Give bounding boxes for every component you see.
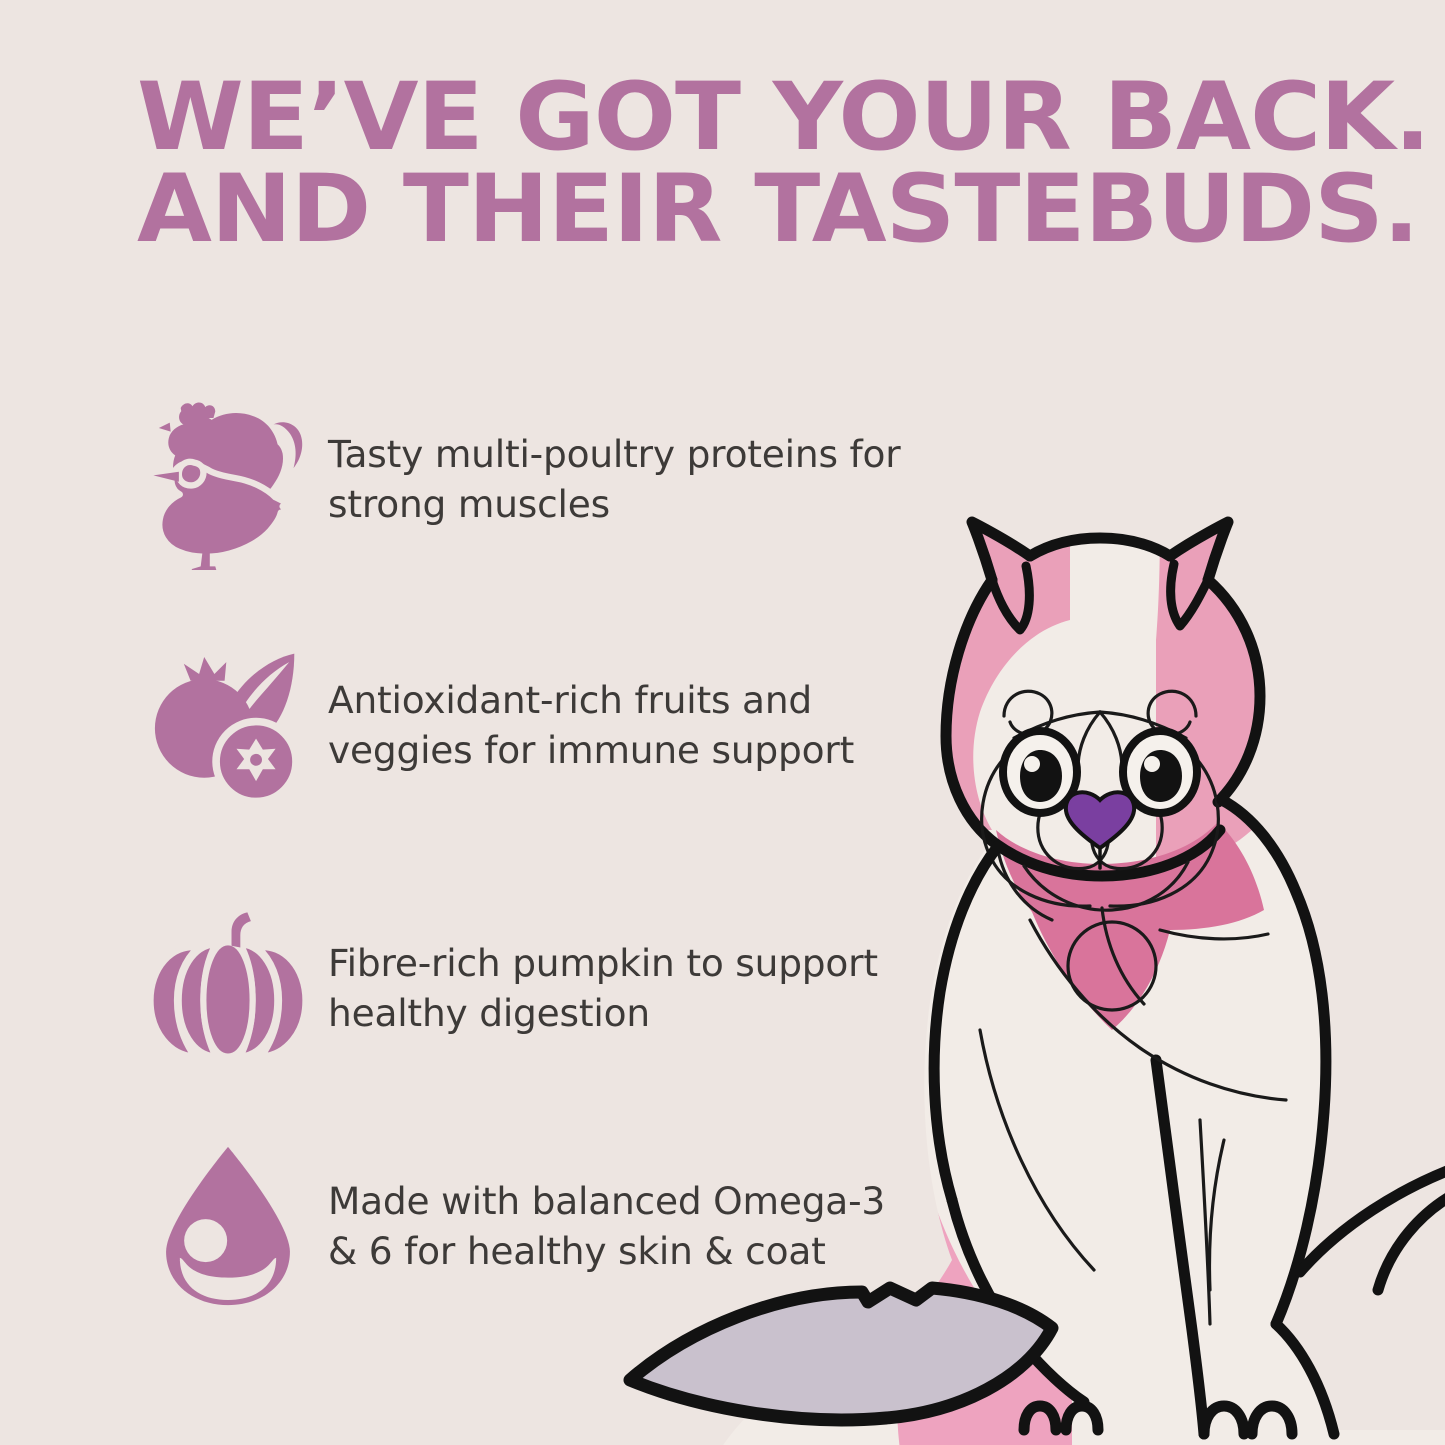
omega-droplet-icon [128, 1140, 328, 1312]
feature-row-pumpkin: Fibre-rich pumpkin to support healthy di… [128, 900, 918, 1076]
infographic-canvas: WE’VE GOT YOUR BACK. AND THEIR TASTEBUDS… [0, 0, 1445, 1445]
feature-row-antioxidants: Antioxidant-rich fruits and veggies for … [128, 640, 918, 810]
feature-text-antioxidants: Antioxidant-rich fruits and veggies for … [328, 675, 908, 776]
feature-text-pumpkin: Fibre-rich pumpkin to support healthy di… [328, 938, 908, 1039]
pumpkin-icon [128, 900, 328, 1076]
page-title: WE’VE GOT YOUR BACK. AND THEIR TASTEBUDS… [137, 72, 1404, 256]
chicken-duck-poultry-icon [128, 388, 328, 570]
feature-row-omega: Made with balanced Omega-3 & 6 for healt… [128, 1140, 918, 1312]
headline-line-1: WE’VE GOT YOUR BACK. [137, 72, 1404, 164]
berries-fruit-icon [128, 640, 328, 810]
feature-text-omega: Made with balanced Omega-3 & 6 for healt… [328, 1176, 908, 1277]
feature-text-poultry: Tasty multi-poultry proteins for strong … [328, 429, 908, 530]
feature-row-poultry: Tasty multi-poultry proteins for strong … [128, 388, 918, 570]
headline-line-2: AND THEIR TASTEBUDS. [137, 164, 1404, 256]
